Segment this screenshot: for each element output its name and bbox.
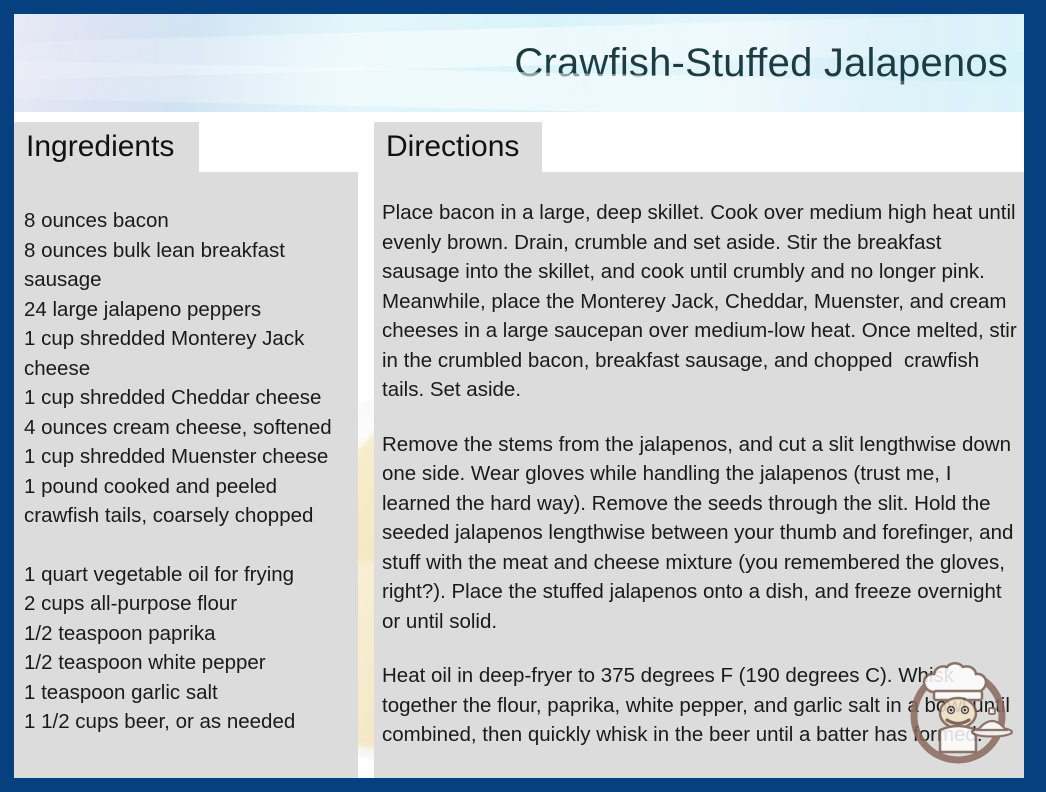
ingredients-panel: 8 ounces bacon 8 ounces bulk lean breakf… — [14, 172, 358, 778]
directions-heading: Directions — [386, 122, 519, 172]
list-item: 1/2 teaspoon paprika — [24, 619, 354, 649]
list-item: 4 ounces cream cheese, softened — [24, 413, 354, 443]
list-item: 1 cup shredded Cheddar cheese — [24, 383, 354, 413]
list-item: 1 cup shredded Muenster cheese — [24, 442, 354, 472]
recipe-slide: Crawfish-Stuffed Jalapenos Ingredients 8… — [0, 0, 1046, 792]
ingredients-list: 8 ounces bacon 8 ounces bulk lean breakf… — [24, 206, 354, 737]
title-banner: Crawfish-Stuffed Jalapenos — [14, 14, 1024, 112]
slide-page: Crawfish-Stuffed Jalapenos Ingredients 8… — [14, 14, 1024, 778]
list-item: 8 ounces bulk lean breakfast sausage — [24, 236, 354, 295]
list-item: 2 cups all-purpose flour — [24, 589, 354, 619]
list-group-separator — [24, 531, 354, 560]
directions-text: Place bacon in a large, deep skillet. Co… — [382, 198, 1018, 778]
list-item: 1 1/2 cups beer, or as needed — [24, 707, 354, 737]
direction-paragraph: Remove the stems from the jalapenos, and… — [382, 430, 1018, 637]
direction-paragraph: Use a skewer to stab a frozen jalapeno, … — [382, 775, 1018, 779]
list-item: 1 cup shredded Monterey Jack cheese — [24, 324, 354, 383]
direction-paragraph: Heat oil in deep-fryer to 375 degrees F … — [382, 661, 1018, 750]
list-item: 1 teaspoon garlic salt — [24, 678, 354, 708]
list-item: 1/2 teaspoon white pepper — [24, 648, 354, 678]
list-item: 1 quart vegetable oil for frying — [24, 560, 354, 590]
ingredients-heading: Ingredients — [26, 122, 174, 172]
directions-panel: Place bacon in a large, deep skillet. Co… — [374, 172, 1024, 778]
list-item: 24 large jalapeno peppers — [24, 295, 354, 325]
list-item: 1 pound cooked and peeled crawfish tails… — [24, 472, 354, 531]
direction-paragraph: Place bacon in a large, deep skillet. Co… — [382, 198, 1018, 405]
page-title: Crawfish-Stuffed Jalapenos — [514, 41, 1008, 85]
list-item: 8 ounces bacon — [24, 206, 354, 236]
